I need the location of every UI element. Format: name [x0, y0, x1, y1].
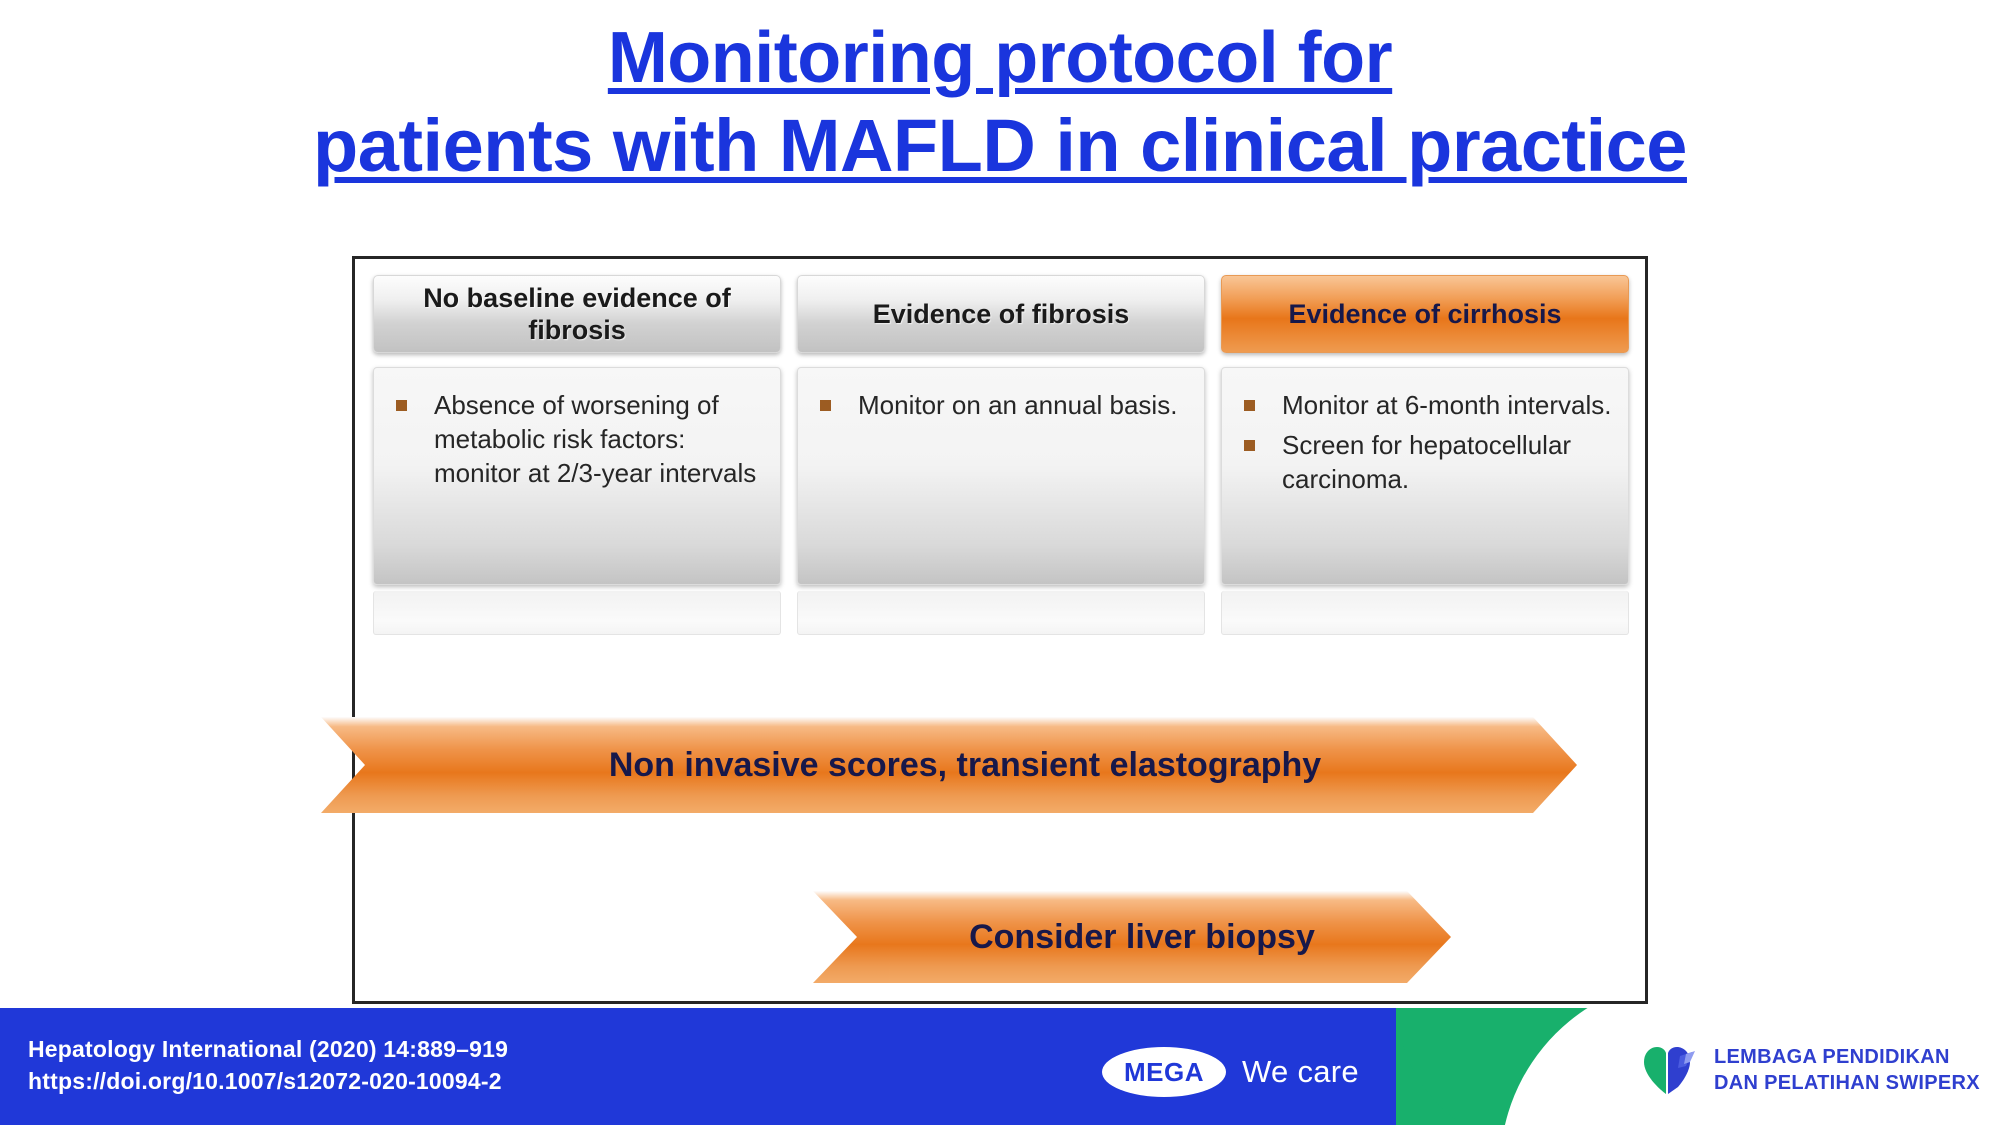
list-item-text: Monitor on an annual basis. [858, 390, 1177, 420]
header-chip-no-baseline-fibrosis[interactable]: No baseline evidence of fibrosis [373, 275, 781, 353]
square-bullet-icon [1244, 440, 1255, 451]
heart-book-icon [1640, 1044, 1700, 1096]
content-box-evidence-fibrosis: Monitor on an annual basis. [797, 367, 1205, 585]
arrow-label: Consider liver biopsy [969, 918, 1315, 957]
mega-tagline: We care [1242, 1054, 1359, 1090]
citation-text: Hepatology International (2020) 14:889–9… [28, 1033, 508, 1097]
square-bullet-icon [1244, 400, 1255, 411]
mega-wordmark: MEGA [1124, 1057, 1204, 1088]
arrow-label: Non invasive scores, transient elastogra… [609, 746, 1321, 785]
header-chip-label: No baseline evidence of fibrosis [388, 282, 766, 346]
list-item: Monitor at 6-month intervals. [1236, 388, 1612, 422]
list-item-text: Absence of worsening of metabolic risk f… [434, 390, 756, 488]
bullet-list: Monitor at 6-month intervals. Screen for… [1236, 388, 1612, 496]
content-box-evidence-cirrhosis: Monitor at 6-month intervals. Screen for… [1221, 367, 1629, 585]
swiperx-logo: LEMBAGA PENDIDIKAN DAN PELATIHAN SWIPERX [1640, 1044, 1980, 1096]
title-line-2: patients with MAFLD in clinical practice [0, 102, 2000, 190]
arrow-consider-liver-biopsy[interactable]: Consider liver biopsy [813, 891, 1451, 983]
square-bullet-icon [396, 400, 407, 411]
square-bullet-icon [820, 400, 831, 411]
list-item-text: Screen for hepatocellular carcinoma. [1282, 430, 1571, 494]
column-no-baseline-fibrosis: No baseline evidence of fibrosis Absence… [373, 275, 781, 635]
header-chip-label: Evidence of cirrhosis [1288, 298, 1561, 330]
bullet-list: Monitor on an annual basis. [812, 388, 1188, 422]
column-evidence-cirrhosis: Evidence of cirrhosis Monitor at 6-month… [1221, 275, 1629, 635]
content-box-no-baseline-fibrosis: Absence of worsening of metabolic risk f… [373, 367, 781, 585]
arrow-non-invasive-scores[interactable]: Non invasive scores, transient elastogra… [321, 717, 1577, 813]
diagram-frame: No baseline evidence of fibrosis Absence… [352, 256, 1648, 1004]
title-line-1: Monitoring protocol for [0, 14, 2000, 102]
spacer-box-2 [797, 591, 1205, 635]
spacer-box-3 [1221, 591, 1629, 635]
column-evidence-fibrosis: Evidence of fibrosis Monitor on an annua… [797, 275, 1205, 635]
header-chip-evidence-fibrosis[interactable]: Evidence of fibrosis [797, 275, 1205, 353]
list-item: Monitor on an annual basis. [812, 388, 1188, 422]
mega-oval-badge: MEGA [1102, 1047, 1226, 1097]
swiperx-name: LEMBAGA PENDIDIKAN DAN PELATIHAN SWIPERX [1714, 1044, 1980, 1096]
list-item-text: Monitor at 6-month intervals. [1282, 390, 1611, 420]
bullet-list: Absence of worsening of metabolic risk f… [388, 388, 764, 490]
page-title: Monitoring protocol for patients with MA… [0, 14, 2000, 190]
list-item: Absence of worsening of metabolic risk f… [388, 388, 764, 490]
header-chip-evidence-cirrhosis[interactable]: Evidence of cirrhosis [1221, 275, 1629, 353]
list-item: Screen for hepatocellular carcinoma. [1236, 428, 1612, 496]
mega-logo: MEGA We care [1102, 1047, 1359, 1097]
spacer-box-1 [373, 591, 781, 635]
column-group: No baseline evidence of fibrosis Absence… [373, 275, 1631, 635]
header-chip-label: Evidence of fibrosis [873, 298, 1130, 330]
